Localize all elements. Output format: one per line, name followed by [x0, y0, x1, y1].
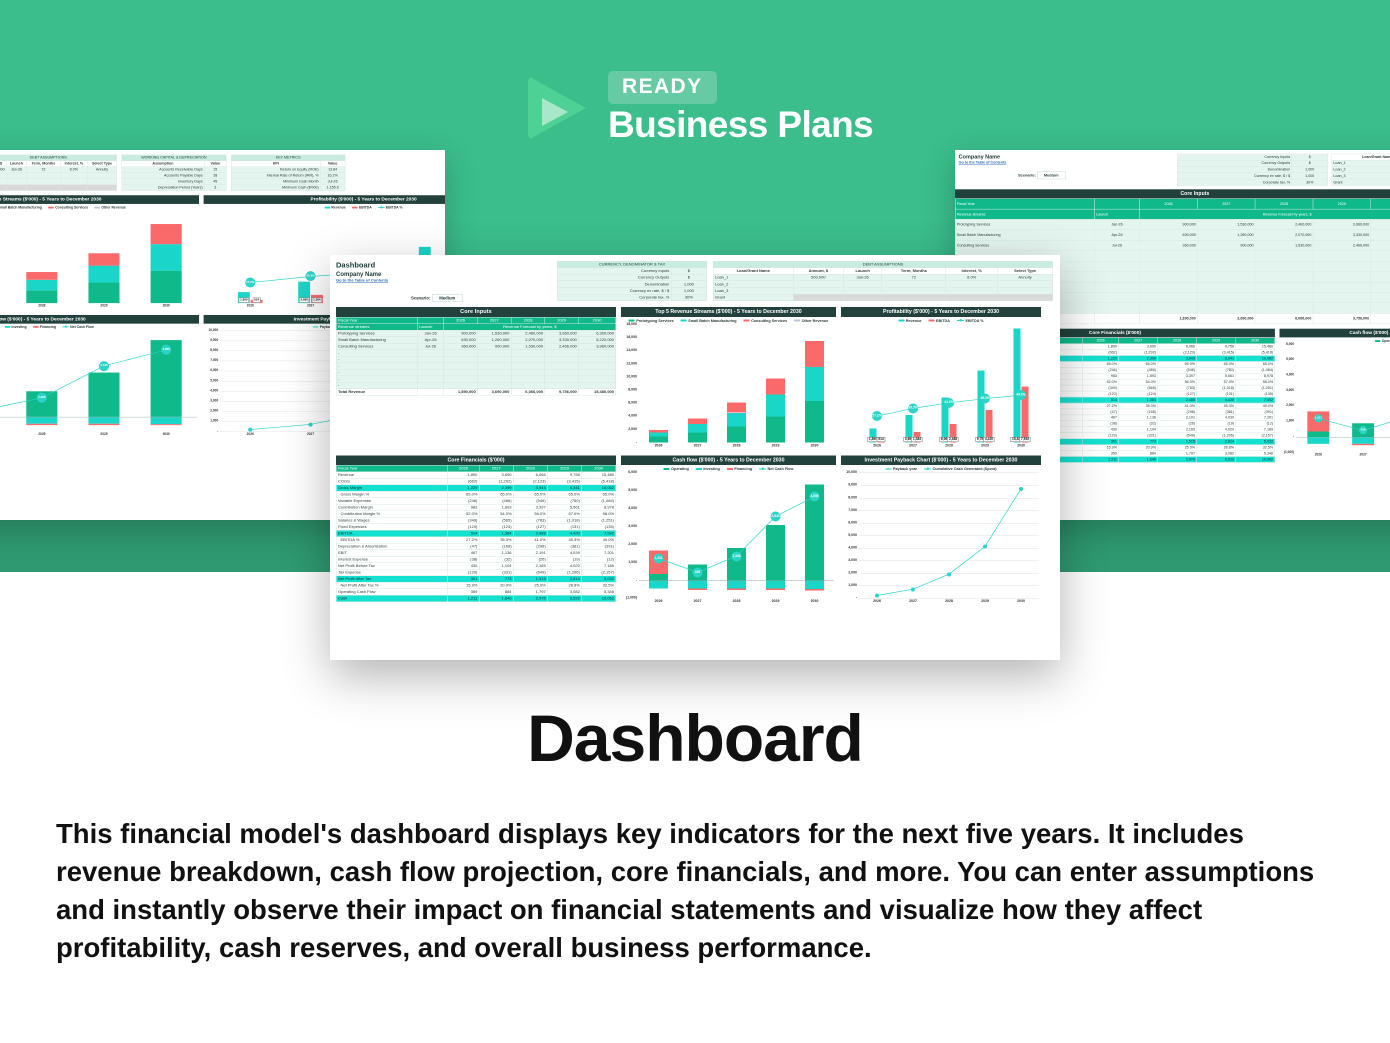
bar-column — [146, 211, 186, 303]
chart-title-payback-main: Investment Payback Chart ($'000) - 5 Yea… — [841, 455, 1041, 465]
chart-legend-payback-main: Payback year Cumulative Cash Generated (… — [841, 465, 1041, 473]
data-point — [1019, 487, 1023, 491]
chart-plot-cash-flow: (1,000)-1,0002,0003,0004,0005,0006,0001,… — [621, 473, 836, 606]
bar-series — [0, 211, 197, 303]
chart-plot-investment-payback: -1,0002,0003,0004,0005,0006,0007,0008,00… — [841, 473, 1041, 606]
debt-panel-header-main: DEBT ASSUMPTIONS — [713, 261, 1053, 268]
core-inputs-table: Fiscal Year 2026 2027 2028 2029 2030 Rev… — [336, 317, 616, 396]
toc-link[interactable]: Go to the Table of Contents — [336, 278, 551, 283]
data-point: 3,545 — [99, 361, 109, 371]
data-point: 4,658 — [161, 345, 171, 355]
bar-segment — [766, 416, 785, 442]
bar-segment — [26, 280, 57, 291]
data-point: 429 — [1359, 426, 1367, 434]
chart-plot-profitability: 1,8905143,6901,3846,0662,4889,7564,42015… — [841, 324, 1041, 449]
bar-segment — [805, 367, 824, 401]
data-point: 35.3% — [908, 403, 918, 413]
data-point: 1,336 — [37, 393, 47, 403]
x-tick-label: 2030 — [1009, 444, 1032, 448]
bar-series — [639, 324, 834, 442]
data-point: 27.2% — [245, 277, 255, 287]
x-tick-label: 2029 — [973, 600, 996, 604]
x-tick-label: 2028 — [937, 444, 960, 448]
core-financials-header: Core Financials ($'000) — [336, 455, 616, 465]
x-axis: 20262027202820292030 — [859, 598, 1039, 605]
bar-segment — [151, 224, 182, 244]
data-point — [983, 545, 987, 549]
scenario-label: Scenario: — [411, 295, 430, 300]
chart-plot-top5-revenue: -2,0004,0006,0008,00010,00012,00014,0001… — [0, 211, 199, 309]
x-tick-label: 2027 — [291, 433, 330, 437]
data-point — [911, 587, 915, 591]
x-axis: 20262027202820292030 — [1296, 452, 1390, 458]
bar-segment — [26, 272, 57, 280]
page-description: This financial model's dashboard display… — [56, 815, 1341, 967]
x-tick-label: 2027 — [1349, 454, 1378, 458]
table-row: Prototyping ServicesJan-26900,0001,530,0… — [955, 219, 1390, 229]
bar-segment — [151, 271, 182, 303]
bar-segment — [766, 395, 785, 417]
sheet-title: Dashboard — [336, 261, 551, 270]
toc-link-right[interactable]: Go to the Table of Contents — [959, 161, 1174, 166]
sheet-company-name: Company Name — [336, 270, 551, 278]
scenario-select[interactable]: Medium — [432, 294, 463, 302]
scenario-select-right[interactable]: Medium — [1037, 171, 1065, 179]
x-tick-label: 2028 — [22, 433, 62, 437]
bar-segment — [89, 266, 120, 283]
x-tick-label: 2029 — [84, 304, 124, 308]
core-inputs-header-right: Core Inputs — [955, 189, 1390, 198]
table-row: Cash1,2111,6402,9766,52210,062 — [336, 595, 616, 602]
bar-segment — [89, 253, 120, 266]
data-point: 49.0% — [1016, 390, 1026, 400]
bar-column — [724, 324, 749, 442]
bar-segment — [688, 424, 707, 432]
data-point: 3,545 — [771, 512, 781, 522]
bar-segment — [805, 401, 824, 442]
x-axis: 20262027202820292030 — [0, 432, 197, 438]
x-tick-label: 2029 — [84, 433, 124, 437]
x-tick-label: 2028 — [724, 444, 749, 448]
currency-panel-header: CURRENCY, DENOMINATOR & TAX — [557, 261, 707, 268]
bar-segment — [688, 432, 707, 442]
bar-column — [763, 324, 788, 442]
data-point: 45.3% — [980, 394, 990, 404]
bar-segment — [727, 403, 746, 413]
x-tick-label: 2026 — [865, 600, 888, 604]
page-title: Dashboard — [0, 700, 1390, 776]
bar-segment — [26, 290, 57, 303]
line-series — [1279, 345, 1390, 459]
table-row: Small Batch ManufacturingApr-26630,0001,… — [955, 230, 1390, 240]
bar-segment — [649, 432, 668, 436]
bar-segment — [766, 378, 785, 394]
spreadsheet-card-main[interactable]: Dashboard Company Name Go to the Table o… — [330, 255, 1060, 660]
bar-segment — [688, 418, 707, 424]
bar-segment — [727, 413, 746, 427]
chart-title-profitability: Profitability ($'000) - 5 Years to Decem… — [204, 195, 445, 204]
chart-plot-cash-flow: (1,000)-1,0002,0003,0004,0005,0006,0001,… — [1279, 345, 1390, 459]
x-tick-label: 2026 — [646, 444, 671, 448]
x-tick-label: 2027 — [685, 600, 710, 604]
x-tick-label: 2026 — [646, 600, 671, 604]
data-point: 1,336 — [732, 551, 742, 561]
table-row: Depreciation & Amortization(47)(168)(298… — [336, 543, 616, 550]
x-axis: 20262027202820292030 — [639, 598, 834, 605]
x-tick-label: 2026 — [1304, 454, 1333, 458]
bar-column — [646, 324, 671, 442]
brand-badge: READY — [608, 71, 717, 104]
bar-column — [802, 324, 827, 442]
x-tick-label: 2030 — [146, 433, 186, 437]
x-tick-label: 2027 — [291, 304, 330, 308]
bar-segment — [727, 426, 746, 442]
chart-legend-top5: Prototyping Services Small Batch Manufac… — [0, 204, 199, 211]
chart-legend-cash-main: Operating Investing Financing Net Cash F… — [621, 465, 836, 473]
x-tick-label: 2030 — [802, 600, 827, 604]
chart-title-top5-main: Top 5 Revenue Streams ($'000) - 5 Years … — [621, 307, 836, 317]
x-tick-label: 2030 — [802, 444, 827, 448]
brand-name: Business Plans — [608, 106, 873, 145]
data-point: 1,211 — [654, 554, 664, 564]
brand-logo: READY Business Plans — [528, 58, 928, 158]
data-point — [308, 422, 312, 426]
chart-plot-top5-revenue: -2,0004,0006,0008,00010,00012,00014,0001… — [621, 324, 836, 449]
bar-column — [84, 211, 124, 303]
x-tick-label: 2029 — [763, 444, 788, 448]
bar-column — [685, 324, 710, 442]
x-tick-label: 2029 — [763, 600, 788, 604]
x-tick-label: 2030 — [1009, 600, 1032, 604]
data-point: 4,658 — [810, 492, 820, 502]
x-tick-label: 2026 — [231, 304, 270, 308]
x-tick-label: 2029 — [973, 444, 996, 448]
chart-plot-cash-flow: (1,000)-1,0002,0003,0004,0005,0006,0001,… — [0, 331, 199, 438]
bar-segment — [649, 430, 668, 432]
chart-title-cash-main: Cash flow ($'000) - 5 Years to December … — [621, 455, 836, 465]
table-row: Consulting ServicesJul-26360,000900,0001… — [955, 240, 1390, 250]
data-point: 35.3% — [306, 271, 316, 281]
chart-legend-prof-main: Revenue EBITDA EBITDA % — [841, 317, 1041, 325]
bar-segment — [805, 341, 824, 367]
bar-segment — [151, 244, 182, 271]
chart-legend-cashflow: Operating Investing Financing Net Cash F… — [0, 323, 199, 330]
data-point — [947, 572, 951, 576]
x-tick-label: 2027 — [901, 600, 924, 604]
sheet-company-name-right: Company Name — [959, 154, 1174, 161]
table-row: Grant — [713, 294, 1053, 301]
x-axis: 20262027202820292030 — [639, 442, 834, 449]
x-tick-label: 2026 — [865, 444, 888, 448]
x-tick-label: 2027 — [685, 444, 710, 448]
x-tick-label: 2028 — [724, 600, 749, 604]
data-point: 1,211 — [1314, 414, 1322, 422]
x-tick-label: 2027 — [901, 444, 924, 448]
line-series — [841, 473, 1041, 606]
line-series — [841, 324, 1041, 449]
x-tick-label: 2030 — [146, 304, 186, 308]
core-inputs-header: Core Inputs — [336, 307, 616, 317]
data-point: 429 — [693, 568, 703, 578]
x-axis: 20262027202820292030 — [859, 442, 1039, 449]
x-tick-label: 2028 — [22, 304, 62, 308]
table-row: Net Profit After Tax %15.9%20.9%25.0%28.… — [336, 582, 616, 589]
chart-title-top5: Top 5 Revenue Streams ($'000) - 5 Years … — [0, 195, 199, 204]
currency-panel: CURRENCY, DENOMINATOR & TAX Currency Inp… — [557, 261, 707, 301]
core-financials-table: Fiscal Year 2026 2027 2028 2029 2030 Rev… — [336, 465, 616, 602]
chart-title-prof-main: Profitability ($'000) - 5 Years to Decem… — [841, 307, 1041, 317]
data-point: 27.2% — [872, 411, 882, 421]
core-inputs-total-label: Total Revenue — [336, 389, 417, 396]
play-triangle-icon — [528, 72, 594, 144]
y-axis: -2,0004,0006,0008,00010,00012,00014,0001… — [621, 324, 638, 442]
line-series — [621, 473, 836, 606]
chart-title-cashflow: Cash flow ($'000) - 5 Years to December … — [0, 315, 199, 324]
x-tick-label: 2026 — [231, 433, 270, 437]
bar-segment — [89, 283, 120, 303]
chart-legend-top5-main: Prototyping Services Small Batch Manufac… — [621, 317, 836, 325]
debt-panel: DEBT ASSUMPTIONS Loan/Grant NameAmount, … — [713, 261, 1053, 301]
x-axis: 20262027202820292030 — [0, 303, 197, 309]
bar-column — [22, 211, 62, 303]
x-tick-label: 2028 — [937, 600, 960, 604]
data-point: 41.0% — [944, 398, 954, 408]
data-point — [875, 594, 879, 598]
table-row: Contribution Margin %52.0%54.0%56.0%57.0… — [336, 511, 616, 518]
chart-legend-profitability: Revenue EBITDA EBITDA % — [204, 204, 445, 211]
